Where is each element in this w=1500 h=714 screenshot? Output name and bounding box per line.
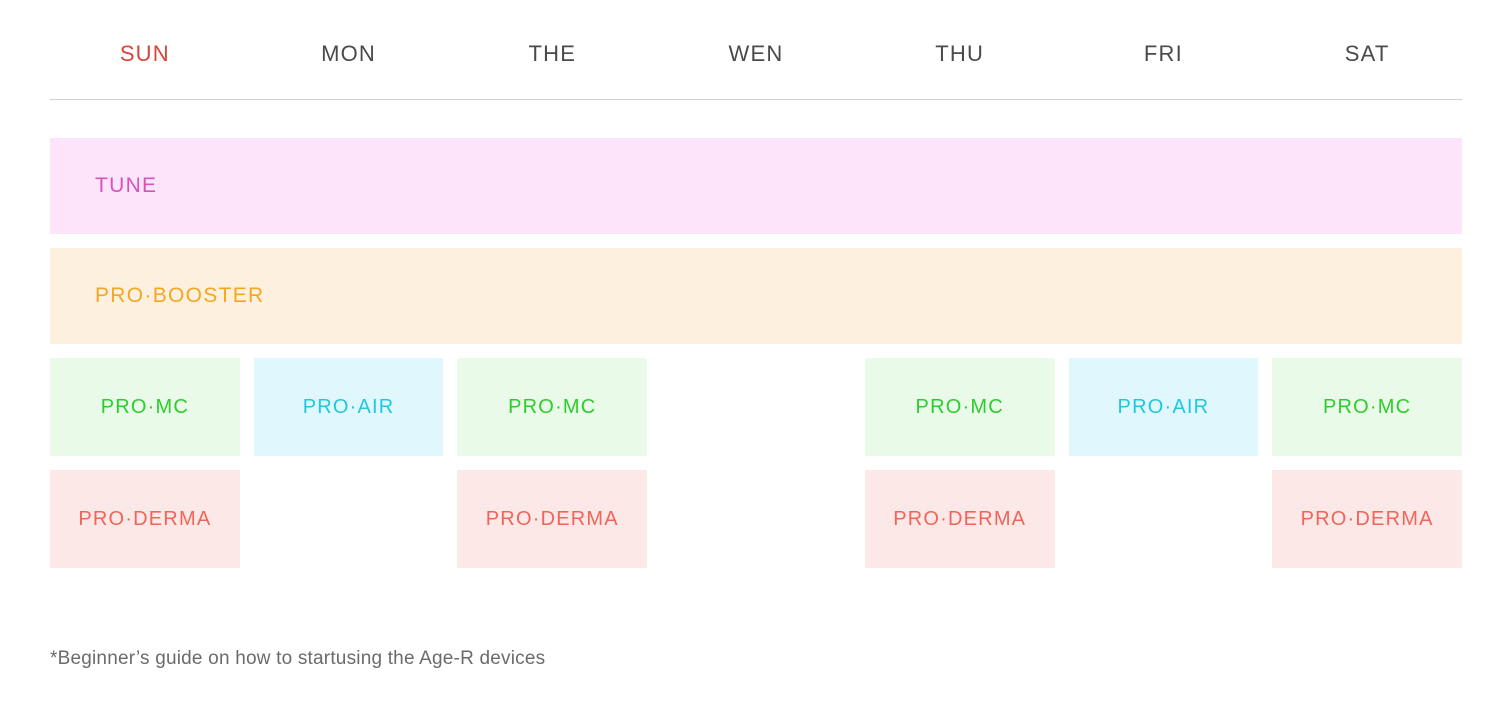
weekday-header-sat[interactable]: SAT [1272, 40, 1462, 68]
weekday-header-wen[interactable]: WEN [661, 40, 851, 68]
band-label-pro-booster: PRO·BOOSTER [95, 283, 264, 309]
secondary-treatment-row: PRO·DERMAPRO·DERMAPRO·DERMAPRO·DERMA [50, 470, 1462, 568]
weekday-header-thu[interactable]: THU [865, 40, 1055, 68]
schedule-cell-empty [661, 358, 851, 456]
schedule-card-derma[interactable]: PRO·DERMA [457, 470, 647, 568]
weekday-header-mon[interactable]: MON [254, 40, 444, 68]
primary-treatment-row: PRO·MCPRO·AIRPRO·MCPRO·MCPRO·AIRPRO·MC [50, 358, 1462, 456]
schedule-card-air[interactable]: PRO·AIR [1069, 358, 1259, 456]
schedule-card-mc[interactable]: PRO·MC [457, 358, 647, 456]
weekday-header-the[interactable]: THE [457, 40, 647, 68]
schedule-cell-empty [254, 470, 444, 568]
header-divider [50, 99, 1462, 100]
weekday-header-row: SUNMONTHEWENTHUFRISAT [50, 40, 1462, 68]
schedule-band-tune[interactable]: TUNE [50, 138, 1462, 234]
schedule-card-derma[interactable]: PRO·DERMA [865, 470, 1055, 568]
schedule-card-mc[interactable]: PRO·MC [50, 358, 240, 456]
weekday-header-fri[interactable]: FRI [1069, 40, 1259, 68]
weekly-treatment-schedule: SUNMONTHEWENTHUFRISAT TUNE PRO·BOOSTER P… [0, 0, 1500, 714]
schedule-card-derma[interactable]: PRO·DERMA [50, 470, 240, 568]
schedule-cell-empty [661, 470, 851, 568]
weekday-header-sun[interactable]: SUN [50, 40, 240, 68]
schedule-card-derma[interactable]: PRO·DERMA [1272, 470, 1462, 568]
footnote-text: *Beginner’s guide on how to startusing t… [50, 646, 545, 672]
schedule-cell-empty [1069, 470, 1259, 568]
band-label-tune: TUNE [95, 173, 157, 199]
schedule-card-mc[interactable]: PRO·MC [865, 358, 1055, 456]
schedule-card-mc[interactable]: PRO·MC [1272, 358, 1462, 456]
schedule-band-pro-booster[interactable]: PRO·BOOSTER [50, 248, 1462, 344]
schedule-card-air[interactable]: PRO·AIR [254, 358, 444, 456]
